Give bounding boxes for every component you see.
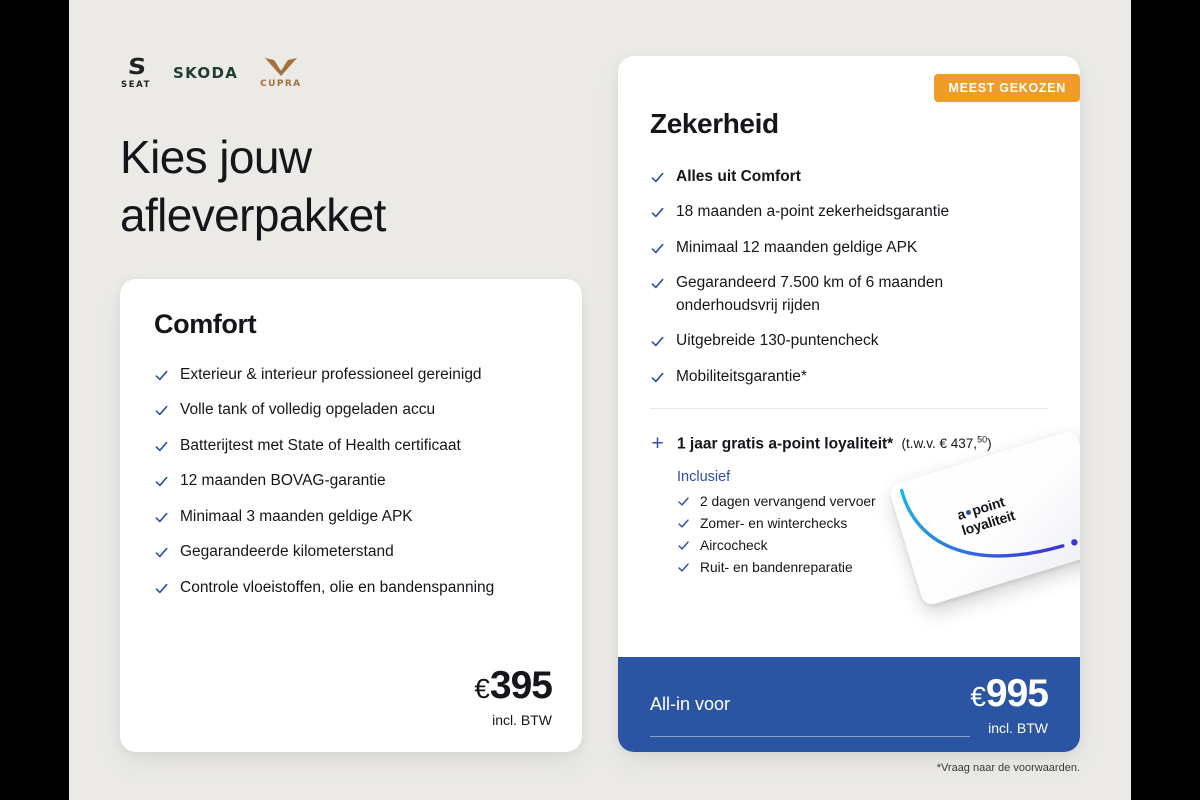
zekerheid-card-title: Zekerheid — [650, 108, 1048, 140]
package-card-zekerheid[interactable]: MEEST GEKOZEN Zekerheid Alles uit Comfor… — [618, 56, 1080, 752]
check-icon — [677, 561, 690, 574]
comfort-feature-list: Exterieur & interieur professioneel gere… — [154, 364, 548, 599]
check-icon — [154, 403, 169, 418]
feature-text: Alles uit Comfort — [676, 166, 1048, 188]
package-card-comfort[interactable]: Comfort Exterieur & interieur profession… — [120, 279, 582, 752]
included-text: Zomer- en winterchecks — [700, 516, 847, 531]
loyalty-worth-suffix: ) — [987, 436, 992, 451]
brand-logo-row: S SEAT SKODA CUPRA — [121, 56, 302, 90]
allin-label: All-in voor — [650, 694, 730, 714]
check-icon — [154, 545, 169, 560]
feature-text: Gegarandeerde kilometerstand — [180, 541, 548, 563]
check-icon — [154, 439, 169, 454]
seat-wordmark: SEAT — [121, 80, 151, 90]
check-icon — [650, 334, 665, 349]
list-item: Exterieur & interieur professioneel gere… — [154, 364, 548, 386]
screenshot-stage: S SEAT SKODA CUPRA Kies jouw afleverpakk… — [0, 0, 1200, 800]
loyalty-included-list: 2 dagen vervangend vervoer Zomer- en win… — [677, 494, 1048, 575]
feature-text: Exterieur & interieur professioneel gere… — [180, 364, 548, 386]
included-text: 2 dagen vervangend vervoer — [700, 494, 876, 509]
feature-text: Minimaal 12 maanden geldige APK — [676, 237, 1048, 259]
feature-text: 12 maanden BOVAG-garantie — [180, 470, 548, 492]
zekerheid-vat-note: incl. BTW — [970, 720, 1048, 736]
check-icon — [650, 205, 665, 220]
page-canvas: S SEAT SKODA CUPRA Kies jouw afleverpakk… — [69, 0, 1131, 800]
feature-text: Controle vloeistoffen, olie en bandenspa… — [180, 577, 548, 599]
list-item: Minimaal 12 maanden geldige APK — [650, 237, 1048, 259]
check-icon — [677, 517, 690, 530]
list-item: Alles uit Comfort — [650, 166, 1048, 188]
page-title: Kies jouw afleverpakket — [120, 129, 386, 245]
check-icon — [154, 474, 169, 489]
zekerheid-card-body: MEEST GEKOZEN Zekerheid Alles uit Comfor… — [618, 56, 1080, 575]
status-badge: MEEST GEKOZEN — [934, 74, 1080, 102]
list-item: Zomer- en winterchecks — [677, 516, 1048, 531]
feature-text: Gegarandeerd 7.500 km of 6 maanden onder… — [676, 272, 1048, 317]
check-icon — [677, 539, 690, 552]
list-item: Gegarandeerd 7.500 km of 6 maanden onder… — [650, 272, 1048, 317]
comfort-price: €395 — [474, 666, 552, 705]
check-icon — [650, 370, 665, 385]
cupra-mark-icon — [264, 57, 298, 77]
footer-rule — [650, 736, 970, 737]
feature-text: 18 maanden a-point zekerheidsgarantie — [676, 201, 1048, 223]
comfort-vat-note: incl. BTW — [474, 712, 552, 728]
feature-text: Minimaal 3 maanden geldige APK — [180, 506, 548, 528]
cupra-logo: CUPRA — [260, 57, 301, 89]
included-text: Aircocheck — [700, 538, 767, 553]
terms-footnote: *Vraag naar de voorwaarden. — [937, 762, 1080, 774]
list-item: Ruit- en bandenreparatie — [677, 560, 1048, 575]
feature-text: Uitgebreide 130-puntencheck — [676, 330, 1048, 352]
list-item: 12 maanden BOVAG-garantie — [154, 470, 548, 492]
list-item: Controle vloeistoffen, olie en bandenspa… — [154, 577, 548, 599]
cupra-wordmark: CUPRA — [260, 79, 301, 89]
check-icon — [154, 510, 169, 525]
price-amount: 995 — [986, 672, 1048, 715]
section-divider — [650, 408, 1048, 409]
list-item: Gegarandeerde kilometerstand — [154, 541, 548, 563]
check-icon — [677, 495, 690, 508]
check-icon — [650, 170, 665, 185]
zekerheid-price-block: €995 incl. BTW — [970, 674, 1048, 736]
plus-icon: + — [650, 433, 665, 454]
comfort-price-block: €395 incl. BTW — [474, 666, 552, 728]
list-item: Uitgebreide 130-puntencheck — [650, 330, 1048, 352]
loyalty-worth-prefix: (t.w.v. € 437, — [902, 436, 978, 451]
currency-symbol: € — [970, 681, 985, 712]
currency-symbol: € — [474, 673, 489, 704]
list-item: Volle tank of volledig opgeladen accu — [154, 399, 548, 421]
check-icon — [154, 368, 169, 383]
list-item: Minimaal 3 maanden geldige APK — [154, 506, 548, 528]
zekerheid-feature-list: Alles uit Comfort 18 maanden a-point zek… — [650, 166, 1048, 388]
loyalty-headline: + 1 jaar gratis a-point loyaliteit* (t.w… — [650, 431, 1048, 453]
zekerheid-price-footer: All-in voor €995 incl. BTW — [618, 657, 1080, 752]
list-item: 18 maanden a-point zekerheidsgarantie — [650, 201, 1048, 223]
seat-logo: S SEAT — [121, 57, 151, 90]
list-item: Batterijtest met State of Health certifi… — [154, 435, 548, 457]
zekerheid-price: €995 — [970, 674, 1048, 713]
loyalty-label: 1 jaar gratis a-point loyaliteit* — [677, 435, 893, 452]
check-icon — [650, 276, 665, 291]
comfort-card-title: Comfort — [154, 309, 548, 340]
price-amount: 395 — [490, 664, 552, 707]
skoda-wordmark: SKODA — [173, 64, 238, 82]
allin-label-wrap: All-in voor — [650, 694, 970, 715]
list-item: Mobiliteitsgarantie* — [650, 366, 1048, 388]
loyalty-worth: (t.w.v. € 437,50) — [902, 436, 992, 451]
check-icon — [154, 581, 169, 596]
seat-mark-icon: S — [127, 57, 146, 79]
check-icon — [650, 241, 665, 256]
feature-text: Volle tank of volledig opgeladen accu — [180, 399, 548, 421]
list-item: 2 dagen vervangend vervoer — [677, 494, 1048, 509]
loyalty-worth-cents: 50 — [977, 435, 987, 445]
skoda-logo: SKODA — [173, 64, 238, 82]
feature-text: Batterijtest met State of Health certifi… — [180, 435, 548, 457]
list-item: Aircocheck — [677, 538, 1048, 553]
included-text: Ruit- en bandenreparatie — [700, 560, 853, 575]
feature-text: Mobiliteitsgarantie* — [676, 366, 1048, 388]
